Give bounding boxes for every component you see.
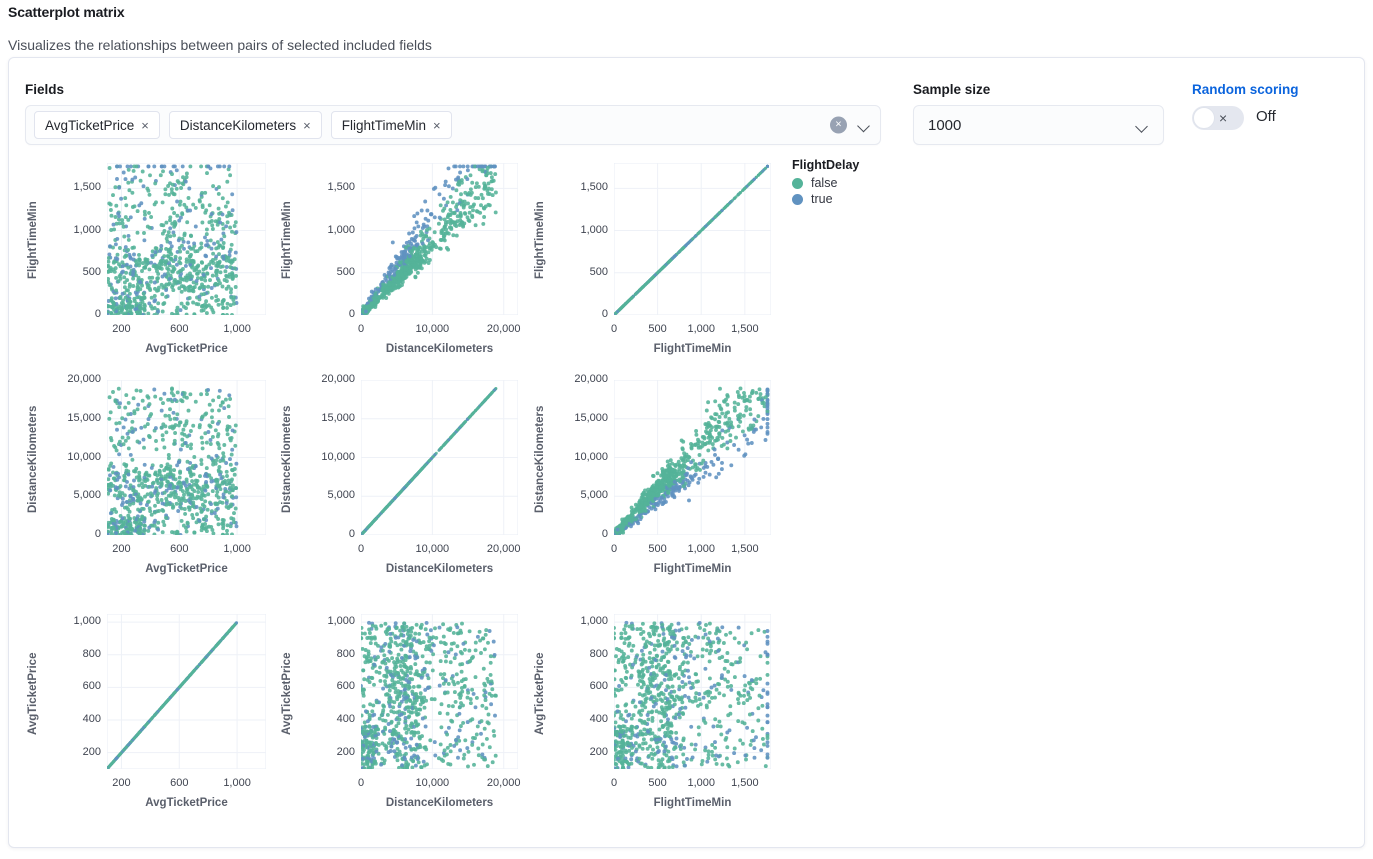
y-axis-label: DistanceKilometers	[534, 406, 546, 513]
y-tick-label: 10,000	[546, 451, 608, 463]
scatter-cell-avgticketprice-flighttimemin[interactable]	[107, 163, 266, 315]
x-tick-label: 1,500	[710, 777, 780, 789]
legend-title: FlightDelay	[792, 158, 859, 172]
y-tick-label: 400	[293, 713, 355, 725]
y-tick-label: 0	[546, 528, 608, 540]
y-tick-label: 10,000	[293, 451, 355, 463]
fields-label: Fields	[25, 82, 64, 97]
page-subtitle: Visualizes the relationships between pai…	[8, 37, 432, 53]
x-tick-label: 0	[326, 777, 396, 789]
y-tick-label: 5,000	[39, 489, 101, 501]
y-tick-label: 400	[546, 713, 608, 725]
y-tick-label: 200	[293, 746, 355, 758]
remove-field-icon[interactable]: ×	[433, 119, 441, 132]
sample-size-label: Sample size	[913, 82, 990, 97]
sample-size-select[interactable]: 1000	[913, 105, 1164, 145]
x-tick-label: 10,000	[397, 777, 467, 789]
scatter-cell-distancekilometers-avgticketprice[interactable]	[361, 614, 518, 769]
x-tick-label: 1,000	[202, 323, 272, 335]
scatter-cell-flighttimemin-distancekilometers[interactable]	[614, 380, 771, 535]
y-tick-label: 500	[39, 266, 101, 278]
legend-item-false[interactable]: false	[792, 176, 859, 190]
y-tick-label: 600	[39, 680, 101, 692]
random-scoring-state: Off	[1256, 108, 1276, 125]
y-axis-label: FlightTimeMin	[27, 202, 39, 280]
x-tick-label: 1,500	[710, 323, 780, 335]
legend-item-true[interactable]: true	[792, 192, 859, 206]
y-tick-label: 800	[293, 648, 355, 660]
random-scoring-toggle[interactable]: ×	[1192, 106, 1244, 130]
y-tick-label: 0	[293, 528, 355, 540]
field-pill[interactable]: DistanceKilometers ×	[169, 111, 322, 139]
plot-area	[107, 163, 266, 315]
y-tick-label: 20,000	[39, 373, 101, 385]
scatter-cell-avgticketprice-distancekilometers[interactable]	[107, 380, 266, 535]
y-tick-label: 20,000	[293, 373, 355, 385]
x-tick-label: 1,000	[202, 543, 272, 555]
y-tick-label: 1,500	[293, 181, 355, 193]
y-axis-label: AvgTicketPrice	[27, 652, 39, 734]
toggle-knob	[1193, 107, 1215, 129]
y-tick-label: 200	[39, 746, 101, 758]
field-pill-label: FlightTimeMin	[342, 118, 426, 133]
chevron-down-icon[interactable]	[858, 121, 871, 129]
field-pill-label: AvgTicketPrice	[45, 118, 134, 133]
clear-all-icon[interactable]: ×	[830, 117, 847, 134]
plot-area	[107, 380, 266, 535]
y-tick-label: 10,000	[39, 451, 101, 463]
x-axis-label: AvgTicketPrice	[145, 797, 227, 809]
field-pill-label: DistanceKilometers	[180, 118, 296, 133]
plot-area	[107, 614, 266, 769]
y-axis-label: DistanceKilometers	[281, 406, 293, 513]
plot-area	[361, 380, 518, 535]
y-axis-label: AvgTicketPrice	[281, 652, 293, 734]
legend: FlightDelay false true	[792, 158, 859, 206]
x-tick-label: 20,000	[469, 543, 539, 555]
random-scoring-label[interactable]: Random scoring	[1192, 82, 1299, 97]
y-axis-label: DistanceKilometers	[27, 406, 39, 513]
y-tick-label: 800	[39, 648, 101, 660]
y-tick-label: 15,000	[293, 412, 355, 424]
y-tick-label: 20,000	[546, 373, 608, 385]
x-axis-label: DistanceKilometers	[386, 797, 493, 809]
y-tick-label: 5,000	[293, 489, 355, 501]
y-tick-label: 5,000	[546, 489, 608, 501]
legend-item-label: true	[811, 192, 833, 206]
y-tick-label: 200	[546, 746, 608, 758]
y-tick-label: 1,000	[293, 224, 355, 236]
legend-color-swatch	[792, 178, 803, 189]
x-tick-label: 10,000	[397, 543, 467, 555]
legend-color-swatch	[792, 194, 803, 205]
x-tick-label: 10,000	[397, 323, 467, 335]
x-tick-label: 0	[326, 323, 396, 335]
y-axis-label: AvgTicketPrice	[534, 652, 546, 734]
y-tick-label: 1,000	[39, 615, 101, 627]
y-tick-label: 0	[39, 308, 101, 320]
y-tick-label: 600	[546, 680, 608, 692]
x-tick-label: 20,000	[469, 777, 539, 789]
scatterplot-matrix-page: Scatterplot matrix Visualizes the relati…	[0, 0, 1373, 859]
y-tick-label: 15,000	[546, 412, 608, 424]
x-axis-label: FlightTimeMin	[654, 343, 732, 355]
y-tick-label: 1,000	[39, 224, 101, 236]
plot-area	[361, 614, 518, 769]
x-axis-label: DistanceKilometers	[386, 563, 493, 575]
x-axis-label: FlightTimeMin	[654, 563, 732, 575]
y-tick-label: 500	[293, 266, 355, 278]
y-tick-label: 600	[293, 680, 355, 692]
x-tick-label: 20,000	[469, 323, 539, 335]
plot-area	[361, 163, 518, 315]
scatter-cell-distancekilometers-distancekilometers[interactable]	[361, 380, 518, 535]
y-axis-label: FlightTimeMin	[534, 202, 546, 280]
field-pill[interactable]: AvgTicketPrice ×	[34, 111, 160, 139]
sample-size-value: 1000	[928, 117, 961, 134]
y-tick-label: 400	[39, 713, 101, 725]
x-axis-label: AvgTicketPrice	[145, 343, 227, 355]
x-axis-label: AvgTicketPrice	[145, 563, 227, 575]
chevron-down-icon[interactable]	[1136, 122, 1149, 130]
y-tick-label: 1,500	[39, 181, 101, 193]
page-title: Scatterplot matrix	[8, 4, 125, 20]
x-axis-label: DistanceKilometers	[386, 343, 493, 355]
y-tick-label: 1,000	[293, 615, 355, 627]
field-pill[interactable]: FlightTimeMin ×	[331, 111, 452, 139]
y-tick-label: 15,000	[39, 412, 101, 424]
y-tick-label: 0	[546, 308, 608, 320]
plot-area	[614, 614, 771, 769]
toggle-off-icon: ×	[1219, 110, 1227, 126]
y-tick-label: 1,000	[546, 615, 608, 627]
scatter-cell-flighttimemin-flighttimemin[interactable]	[614, 163, 771, 315]
x-tick-label: 1,500	[710, 543, 780, 555]
legend-item-label: false	[811, 176, 837, 190]
scatter-cell-flighttimemin-avgticketprice[interactable]	[614, 614, 771, 769]
scatter-cell-distancekilometers-flighttimemin[interactable]	[361, 163, 518, 315]
x-axis-label: FlightTimeMin	[654, 797, 732, 809]
plot-area	[614, 163, 771, 315]
y-tick-label: 500	[546, 266, 608, 278]
fields-combobox[interactable]: AvgTicketPrice × DistanceKilometers × Fl…	[25, 105, 881, 145]
y-tick-label: 1,500	[546, 181, 608, 193]
y-tick-label: 800	[546, 648, 608, 660]
fields-actions: ×	[830, 117, 871, 134]
y-tick-label: 1,000	[546, 224, 608, 236]
remove-field-icon[interactable]: ×	[303, 119, 311, 132]
x-tick-label: 1,000	[202, 777, 272, 789]
plot-area	[614, 380, 771, 535]
remove-field-icon[interactable]: ×	[141, 119, 149, 132]
y-tick-label: 0	[293, 308, 355, 320]
scatter-cell-avgticketprice-avgticketprice[interactable]	[107, 614, 266, 769]
y-tick-label: 0	[39, 528, 101, 540]
x-tick-label: 0	[326, 543, 396, 555]
y-axis-label: FlightTimeMin	[281, 202, 293, 280]
